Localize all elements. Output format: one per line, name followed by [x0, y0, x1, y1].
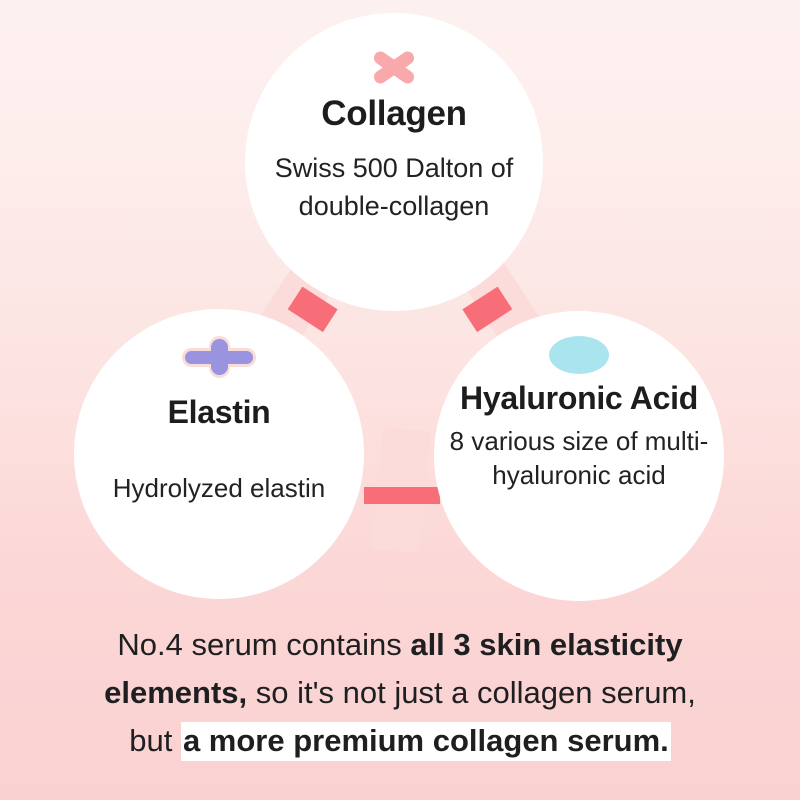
connector-elastin-hyaluronic-accent — [364, 487, 440, 504]
caption-line-2: elements, so it's not just a collagen se… — [0, 669, 800, 717]
caption-line-1-plain: No.4 serum contains — [117, 627, 410, 662]
plus-capsule-icon — [182, 336, 256, 378]
bubble-elastin[interactable]: Elastin Hydrolyzed elastin — [74, 309, 364, 599]
bubble-elastin-description: Hydrolyzed elastin — [77, 470, 362, 506]
ingredient-infographic: Collagen Swiss 500 Dalton of double-coll… — [0, 0, 800, 800]
caption-block: No.4 serum contains all 3 skin elasticit… — [0, 621, 800, 765]
collagen-icon-wrap — [344, 41, 444, 93]
hyaluronic-icon-wrap — [529, 329, 629, 381]
bubble-hyaluronic-acid-title: Hyaluronic Acid — [460, 381, 698, 416]
ellipse-icon — [549, 336, 609, 374]
bubble-collagen-description: Swiss 500 Dalton of double-collagen — [249, 149, 539, 226]
caption-line-3-bold-highlight: a more premium collagen serum. — [181, 722, 671, 761]
caption-line-3-plain: but — [129, 723, 181, 758]
x-cross-icon — [370, 47, 418, 87]
bubble-collagen-title: Collagen — [321, 95, 466, 133]
bubble-hyaluronic-acid-description: 8 various size of multi-hyaluronic acid — [445, 424, 713, 494]
caption-line-1-bold: all 3 skin elasticity — [410, 627, 682, 662]
bubble-collagen[interactable]: Collagen Swiss 500 Dalton of double-coll… — [245, 13, 543, 311]
caption-line-3: but a more premium collagen serum. — [0, 717, 800, 765]
caption-line-1: No.4 serum contains all 3 skin elasticit… — [0, 621, 800, 669]
elastin-icon-wrap — [169, 331, 269, 383]
bubble-hyaluronic-acid[interactable]: Hyaluronic Acid 8 various size of multi-… — [434, 311, 724, 601]
caption-line-2-plain: so it's not just a collagen serum, — [247, 675, 696, 710]
bubble-elastin-title: Elastin — [168, 395, 271, 430]
caption-line-2-bold: elements, — [104, 675, 247, 710]
